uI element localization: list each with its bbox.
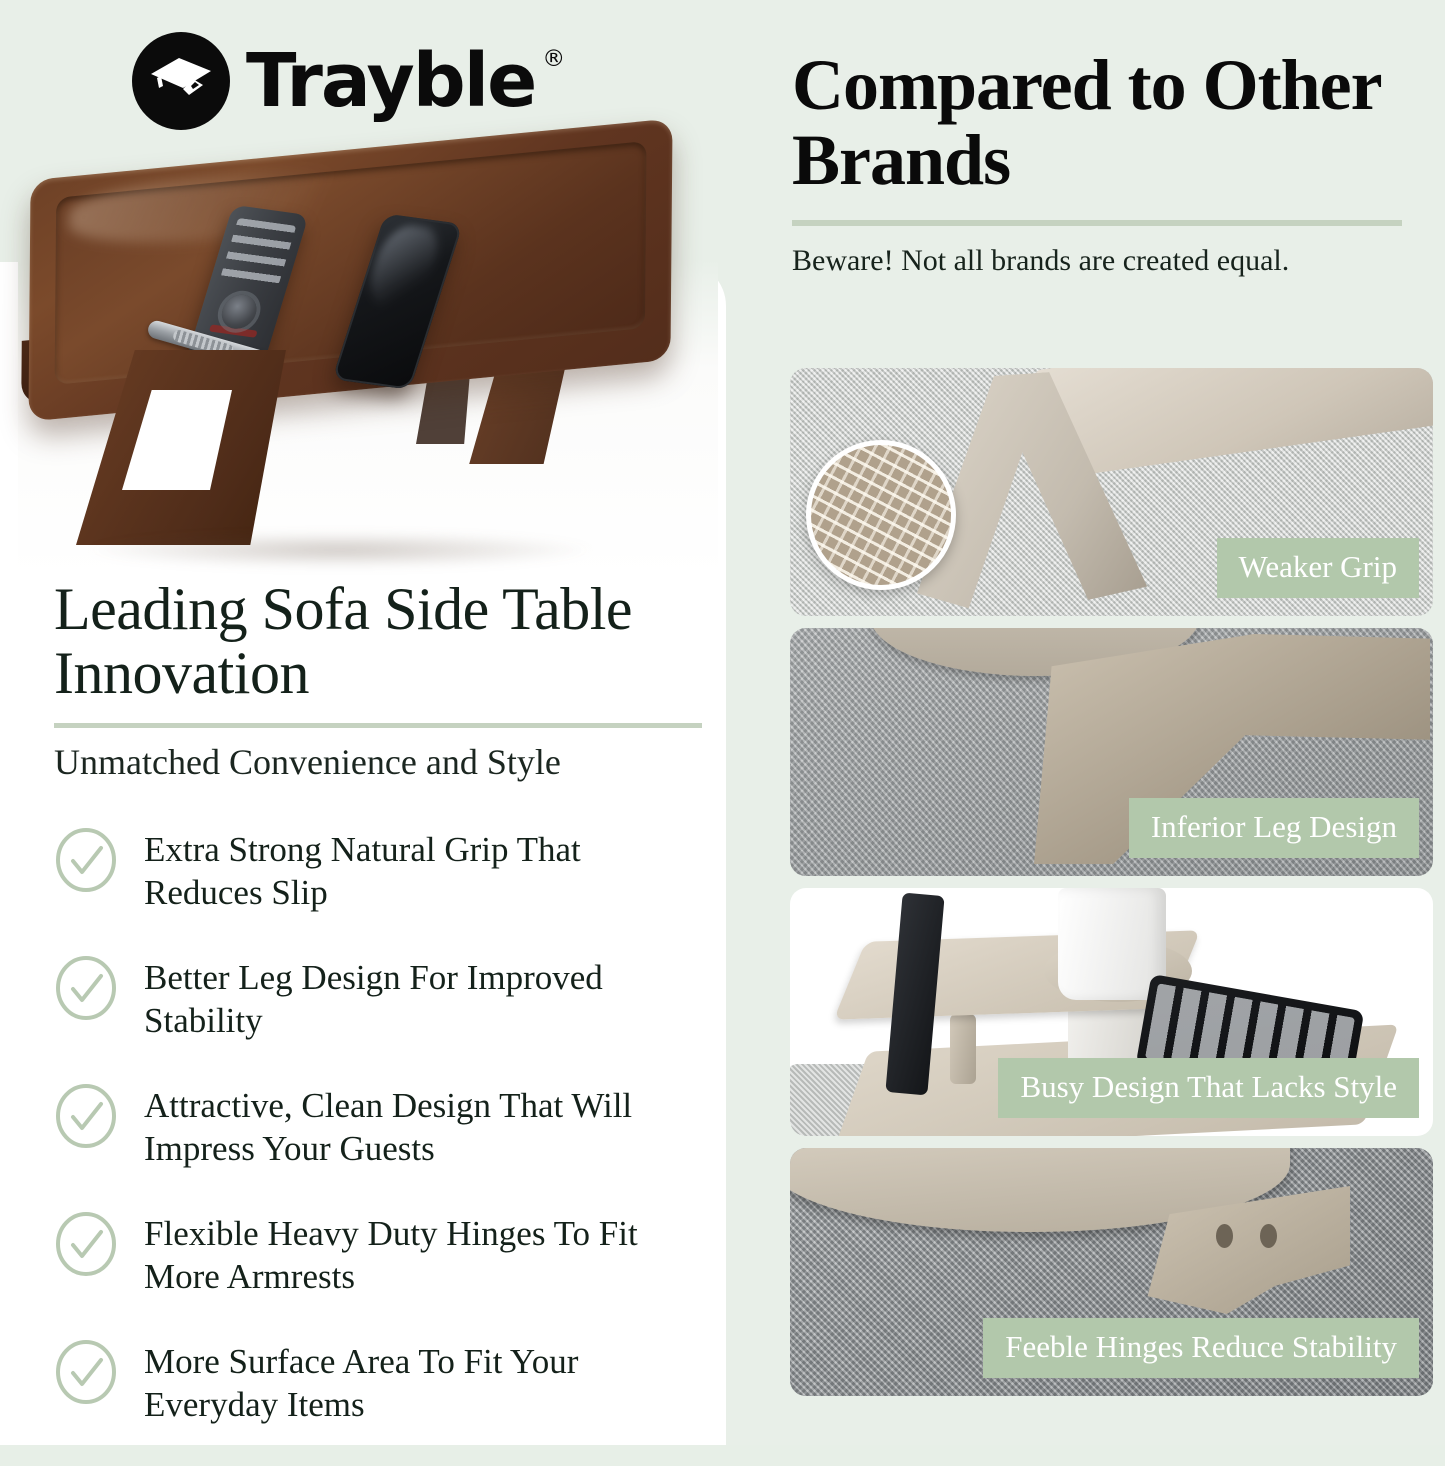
comparison-photo-inferior-leg: Inferior Leg Design xyxy=(790,628,1433,876)
graduation-cap-tray-icon xyxy=(132,32,230,130)
remote-brand-strip xyxy=(209,324,258,337)
feature-label: More Surface Area To Fit Your Everyday I… xyxy=(144,1338,702,1426)
comparison-photo-feeble-hinges: Feeble Hinges Reduce Stability xyxy=(790,1148,1433,1396)
check-circle-icon xyxy=(54,1212,118,1276)
check-circle-icon xyxy=(54,956,118,1020)
list-item: Flexible Heavy Duty Hinges To Fit More A… xyxy=(54,1210,702,1298)
headline-divider xyxy=(54,723,702,728)
feature-label: Flexible Heavy Duty Hinges To Fit More A… xyxy=(144,1210,702,1298)
feature-label: Extra Strong Natural Grip That Reduces S… xyxy=(144,826,702,914)
page-title: Leading Sofa Side Table Innovation xyxy=(54,578,702,705)
status-badge: Busy Design That Lacks Style xyxy=(998,1058,1419,1118)
brand-name-text: Trayble xyxy=(246,38,535,124)
list-item: Extra Strong Natural Grip That Reduces S… xyxy=(54,826,702,914)
comparison-photo-weaker-grip: Weaker Grip xyxy=(790,368,1433,616)
status-badge: Feeble Hinges Reduce Stability xyxy=(983,1318,1419,1378)
competitor-tray-post xyxy=(950,1014,976,1084)
page-subtitle: Unmatched Convenience and Style xyxy=(54,742,702,783)
comparison-divider xyxy=(792,220,1402,226)
list-item: Better Leg Design For Improved Stability xyxy=(54,954,702,1042)
brand-name: Trayble® xyxy=(246,44,563,118)
status-badge: Inferior Leg Design xyxy=(1129,798,1419,858)
list-item: Attractive, Clean Design That Will Impre… xyxy=(54,1082,702,1170)
right-panel: Compared to Other Brands Beware! Not all… xyxy=(726,0,1445,1445)
feature-label: Attractive, Clean Design That Will Impre… xyxy=(144,1082,702,1170)
feature-list: Extra Strong Natural Grip That Reduces S… xyxy=(54,826,702,1426)
hero-product-photo xyxy=(18,140,718,580)
list-item: More Surface Area To Fit Your Everyday I… xyxy=(54,1338,702,1426)
grip-texture-magnifier-icon xyxy=(806,440,956,590)
registered-mark: ® xyxy=(542,48,563,71)
hero-drop-shadow xyxy=(80,532,600,568)
comparison-title: Compared to Other Brands xyxy=(792,48,1402,198)
comparison-photo-list: Weaker Grip Inferior Leg Design xyxy=(790,368,1433,1408)
left-content: Leading Sofa Side Table Innovation Unmat… xyxy=(54,578,702,1466)
brand-logo: Trayble® xyxy=(132,32,563,130)
check-circle-icon xyxy=(54,828,118,892)
status-badge: Weaker Grip xyxy=(1217,538,1419,598)
check-circle-icon xyxy=(54,1084,118,1148)
comparison-header: Compared to Other Brands Beware! Not all… xyxy=(792,48,1402,278)
bracket-screw-hole xyxy=(1216,1224,1233,1248)
comparison-subtitle: Beware! Not all brands are created equal… xyxy=(792,244,1402,278)
bracket-screw-hole xyxy=(1260,1224,1277,1248)
comparison-photo-busy-design: Busy Design That Lacks Style xyxy=(790,888,1433,1136)
check-circle-icon xyxy=(54,1340,118,1404)
infographic-canvas: Trayble® xyxy=(0,0,1445,1445)
left-panel: Trayble® xyxy=(0,0,726,1445)
feature-label: Better Leg Design For Improved Stability xyxy=(144,954,702,1042)
